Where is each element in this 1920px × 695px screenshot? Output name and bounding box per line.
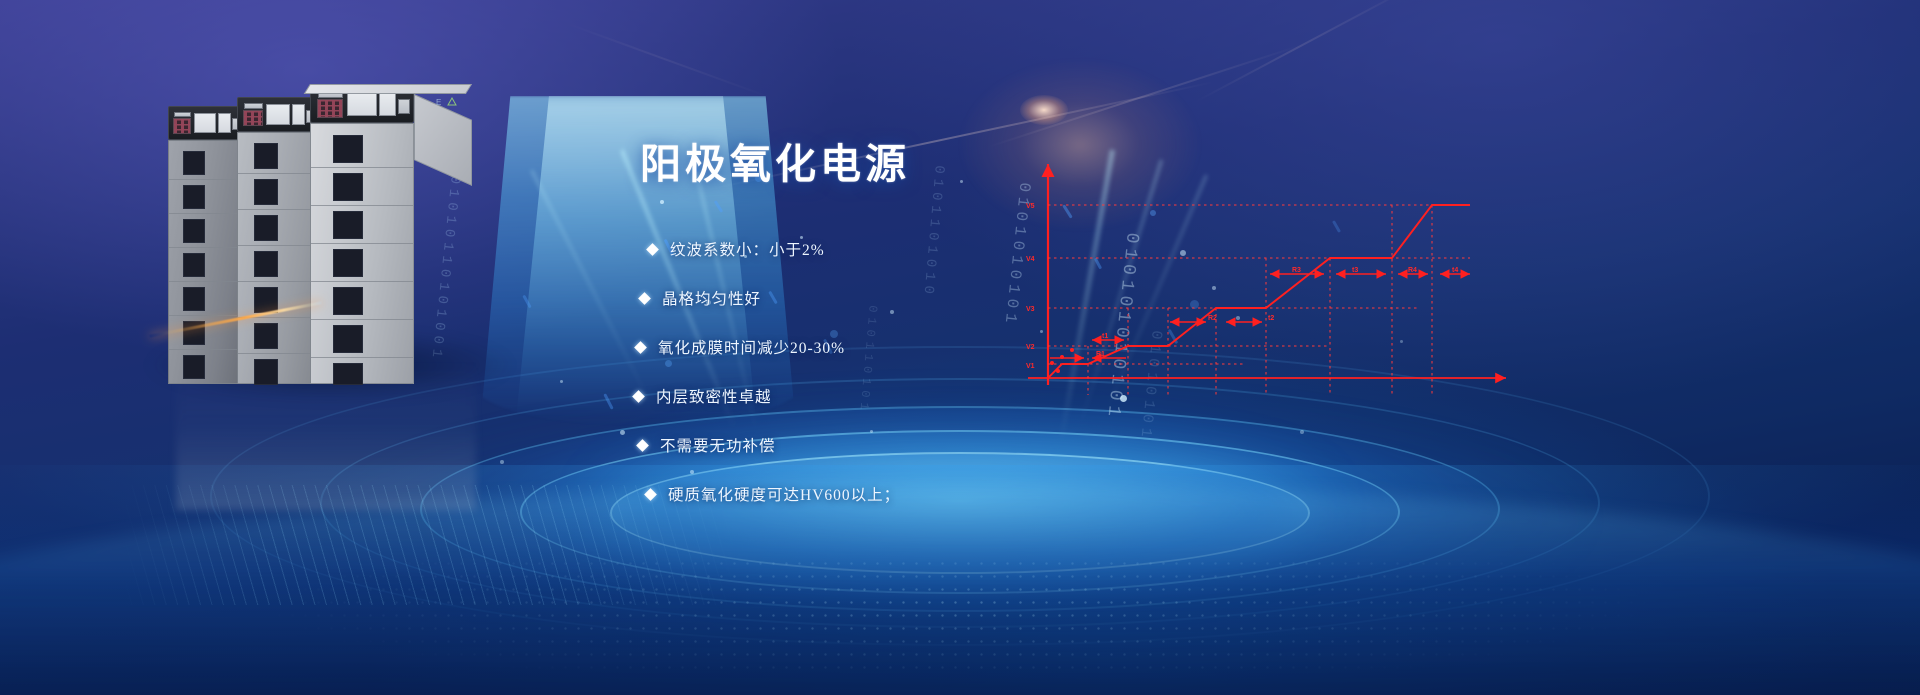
diamond-bullet-icon [638,292,651,305]
diamond-bullet-icon [646,243,659,256]
chart-label-v3: V3 [1026,306,1035,313]
list-item-label: 氧化成膜时间减少20-30% [658,336,845,358]
chart-label-t3: t3 [1352,267,1358,274]
svg-text:E: E [436,98,441,107]
brand-logo-icon: E [436,96,464,108]
list-item: 不需要无功补偿 [638,434,1160,456]
floor-dot-grid [0,557,1920,677]
chart-label-v1: V1 [1026,363,1035,370]
chart-label-t2: t2 [1268,315,1274,322]
chart-label-v2: V2 [1026,344,1035,351]
diamond-bullet-icon [634,341,647,354]
light-streak [1195,0,1426,103]
power-cabinet-group [168,84,478,384]
chart-time-gridlines [1088,205,1432,395]
chart-voltage-curve [1048,205,1470,378]
product-banner: 01010110101001 0101101010 0101010101 010… [0,0,1920,695]
diamond-bullet-icon [644,488,657,501]
list-item-label: 内层致密性卓越 [656,385,772,407]
light-streak [988,44,1302,148]
chart-label-v5: V5 [1026,203,1035,210]
chart-label-r1: R1 [1096,351,1105,358]
list-item-label: 晶格均匀性好 [662,287,761,309]
list-item: 硬质氧化硬度可达HV600以上； [646,483,1160,505]
chart-label-r3: R3 [1292,267,1301,274]
light-streak [566,22,773,99]
chart-label-r4: R4 [1408,267,1417,274]
chart-label-r2: R2 [1208,315,1217,322]
chart-segment-labels: R1 t1 R2 t2 R3 t3 R4 t4 [1096,267,1458,358]
power-cabinet [168,106,242,384]
chart-label-t4: t4 [1452,267,1458,274]
chart-voltage-labels: V5 V4 V3 V2 V1 [1026,203,1035,370]
diamond-bullet-icon [636,439,649,452]
chart-label-v4: V4 [1026,256,1035,263]
chart-dimension-arrows [1050,274,1470,358]
list-item-label: 不需要无功补偿 [660,434,776,456]
chart-origin-markers [1050,348,1074,373]
list-item-label: 纹波系数小：小于2% [670,238,825,260]
cabinet-top-deck [304,84,472,94]
chart-label-t1: t1 [1102,333,1108,340]
warm-glow-core [1020,95,1068,125]
diamond-bullet-icon [632,390,645,403]
power-cabinet [237,97,317,384]
list-item-label: 硬质氧化硬度可达HV600以上； [668,483,900,505]
voltage-waveform-chart: V5 V4 V3 V2 V1 R1 t1 R2 [1000,150,1520,410]
power-cabinet [310,84,414,384]
